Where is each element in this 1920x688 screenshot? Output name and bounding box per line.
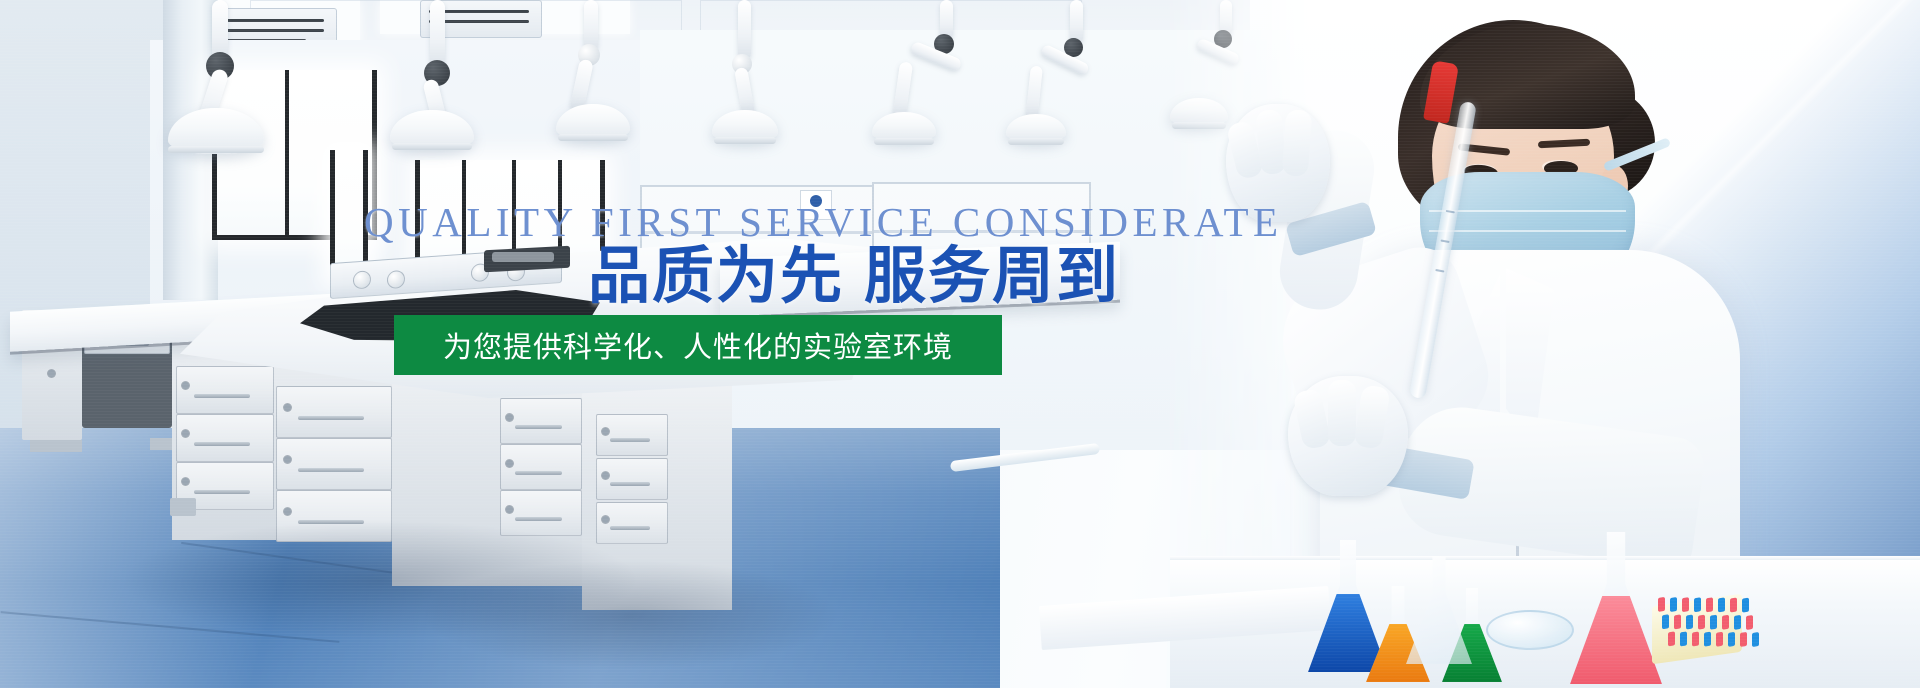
english-tagline: QUALITY FIRST SERVICE CONSIDERATE (364, 202, 1283, 243)
headline-part-2: 服务周到 (864, 239, 1120, 312)
subtitle-banner: 为您提供科学化、人性化的实验室环境 (394, 315, 1002, 375)
headline: 品质为先服务周到 (588, 243, 1120, 308)
headline-part-1: 品质为先 (588, 239, 844, 312)
subtitle-text: 为您提供科学化、人性化的实验室环境 (443, 324, 953, 366)
banner-copy: QUALITY FIRST SERVICE CONSIDERATE 品质为先服务… (0, 0, 1920, 688)
hero-banner: QUALITY FIRST SERVICE CONSIDERATE 品质为先服务… (0, 0, 1920, 688)
